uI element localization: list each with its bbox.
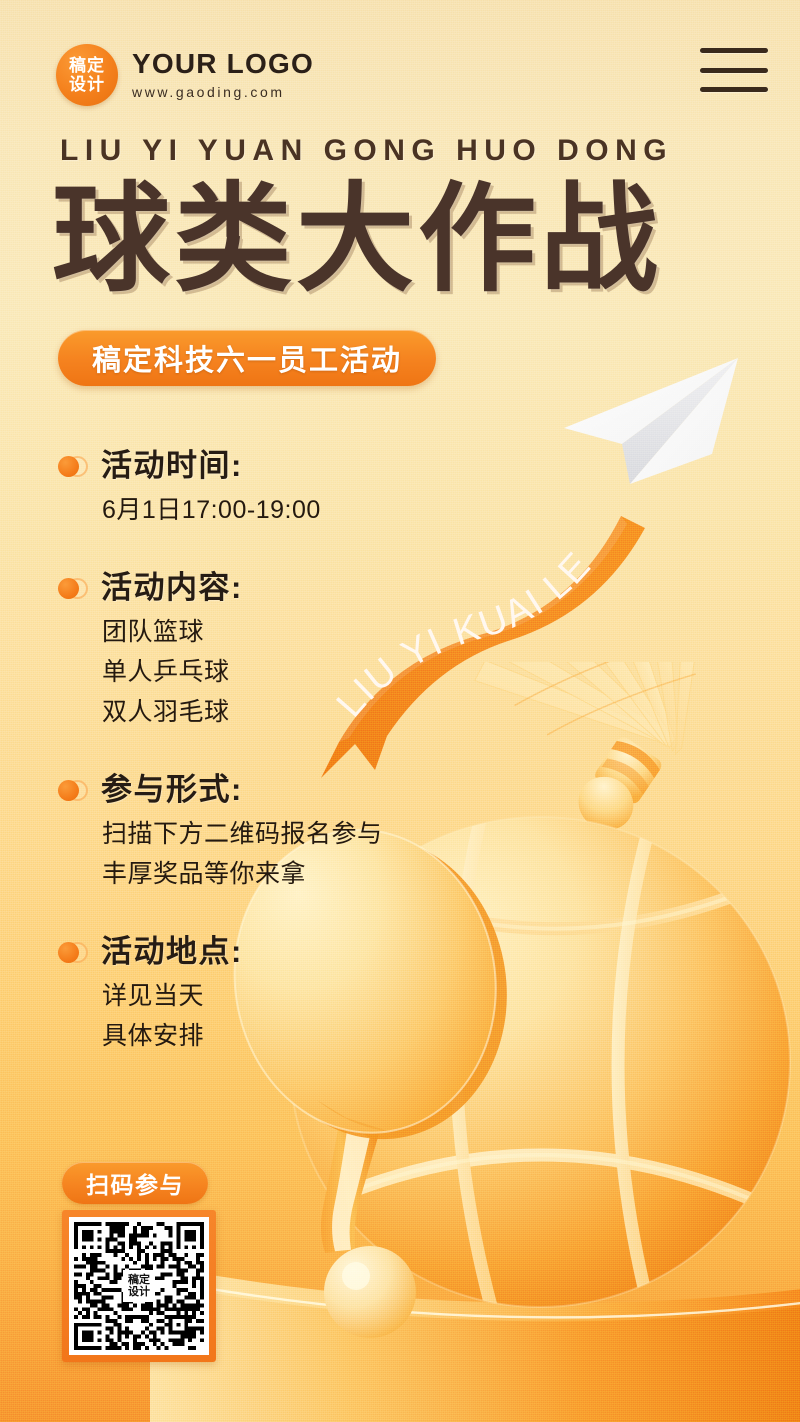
poster-canvas: LIU YI KUAI LE 稿定: [0, 0, 800, 1422]
info-section-list: 活动时间: 6月1日17:00-19:00 活动内容: 团队篮球 单人乒乓球 双…: [58, 448, 418, 1080]
title-pinyin: LIU YI YUAN GONG HUO DONG: [60, 134, 760, 168]
brand-badge-line1: 稿定: [69, 56, 105, 75]
info-heading: 活动时间:: [101, 448, 243, 484]
paper-plane-icon: [560, 352, 760, 502]
info-block-time: 活动时间: 6月1日17:00-19:00: [58, 448, 418, 530]
info-block-content: 活动内容: 团队篮球 单人乒乓球 双人羽毛球: [58, 570, 418, 732]
info-line: 详见当天: [102, 976, 418, 1016]
scan-to-join-badge: 扫码参与: [62, 1162, 208, 1204]
info-line: 6月1日17:00-19:00: [102, 490, 418, 530]
info-heading: 活动地点:: [101, 934, 243, 970]
info-line: 丰厚奖品等你来拿: [102, 854, 418, 894]
bullet-circle-icon: [58, 940, 88, 964]
bullet-circle-icon: [58, 454, 88, 478]
hamburger-bar-1: [700, 48, 768, 53]
event-tag-badge: 稿定科技六一员工活动: [58, 330, 436, 386]
info-heading: 活动内容:: [101, 570, 243, 606]
qr-logo-line2: 设计: [128, 1286, 150, 1298]
bullet-circle-icon: [58, 778, 88, 802]
info-block-location: 活动地点: 详见当天 具体安排: [58, 934, 418, 1056]
info-line: 团队篮球: [102, 612, 418, 652]
qr-logo-line1: 稿定: [128, 1274, 150, 1286]
info-line: 单人乒乓球: [102, 652, 418, 692]
brand-name: YOUR LOGO: [132, 49, 314, 79]
info-line: 双人羽毛球: [102, 692, 418, 732]
qr-center-logo: 稿定 设计: [123, 1270, 155, 1302]
info-block-participation: 参与形式: 扫描下方二维码报名参与 丰厚奖品等你来拿: [58, 772, 418, 894]
poster-header: 稿定 设计 YOUR LOGO www.gaoding.com: [56, 44, 756, 106]
info-line: 扫描下方二维码报名参与: [102, 814, 418, 854]
hamburger-bar-2: [700, 68, 768, 73]
info-heading: 参与形式:: [101, 772, 243, 808]
info-line: 具体安排: [102, 1016, 418, 1056]
brand-logo-badge: 稿定 设计: [56, 44, 118, 106]
brand-website: www.gaoding.com: [132, 82, 314, 102]
hamburger-bar-3: [700, 87, 768, 92]
brand-badge-line2: 设计: [69, 75, 105, 94]
bullet-circle-icon: [58, 576, 88, 600]
hamburger-menu-icon[interactable]: [700, 48, 768, 92]
qr-code-block[interactable]: 稿定 设计: [62, 1210, 216, 1362]
page-title: 球类大作战: [52, 178, 772, 300]
